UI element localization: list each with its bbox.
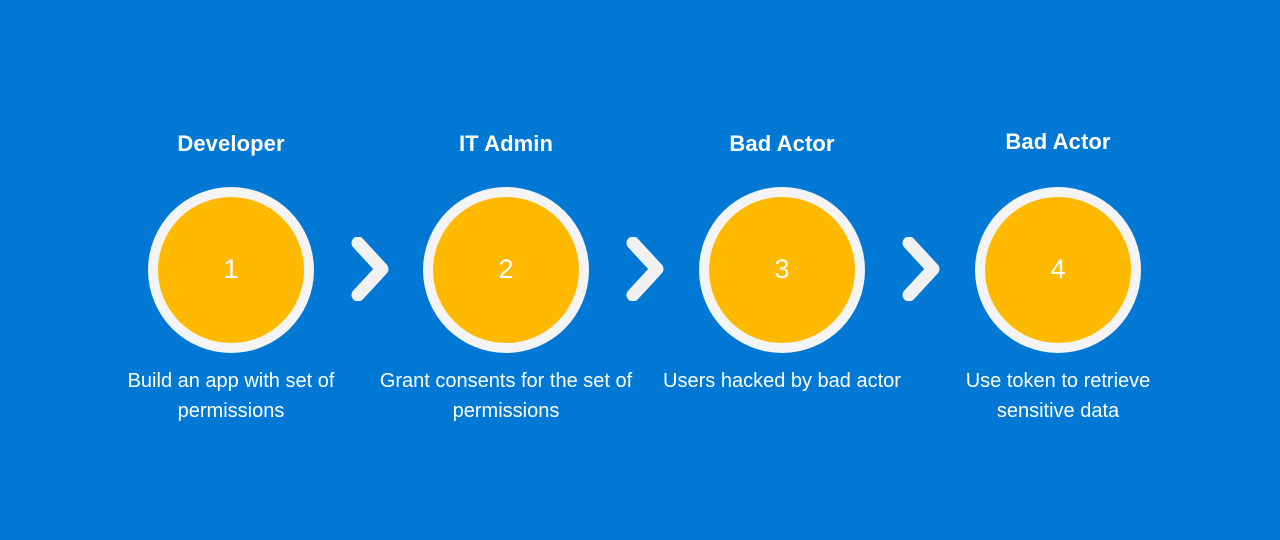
step-title-3: Bad Actor	[644, 129, 920, 159]
process-step-3: Bad Actor 3 Users hacked by bad actor	[644, 0, 920, 540]
step-title-4: Bad Actor	[920, 127, 1196, 157]
process-flow-diagram: Developer 1 Build an app with set of per…	[0, 0, 1280, 540]
step-description-3: Users hacked by bad actor	[644, 366, 920, 396]
step-circle-2[interactable]: 2	[433, 197, 579, 343]
process-step-1: Developer 1 Build an app with set of per…	[93, 0, 369, 540]
step-title-2: IT Admin	[368, 129, 644, 159]
process-step-4: Bad Actor 4 Use token to retrieve sensit…	[920, 0, 1196, 540]
step-circle-3[interactable]: 3	[709, 197, 855, 343]
step-description-4: Use token to retrieve sensitive data	[920, 366, 1196, 426]
step-number-3: 3	[709, 197, 855, 343]
step-circle-1[interactable]: 1	[158, 197, 304, 343]
step-number-2: 2	[433, 197, 579, 343]
step-description-1: Build an app with set of permissions	[93, 366, 369, 426]
step-number-1: 1	[158, 197, 304, 343]
step-number-4: 4	[985, 197, 1131, 343]
process-step-2: IT Admin 2 Grant consents for the set of…	[368, 0, 644, 540]
step-circle-4[interactable]: 4	[985, 197, 1131, 343]
step-title-1: Developer	[93, 129, 369, 159]
step-description-2: Grant consents for the set of permission…	[368, 366, 644, 426]
